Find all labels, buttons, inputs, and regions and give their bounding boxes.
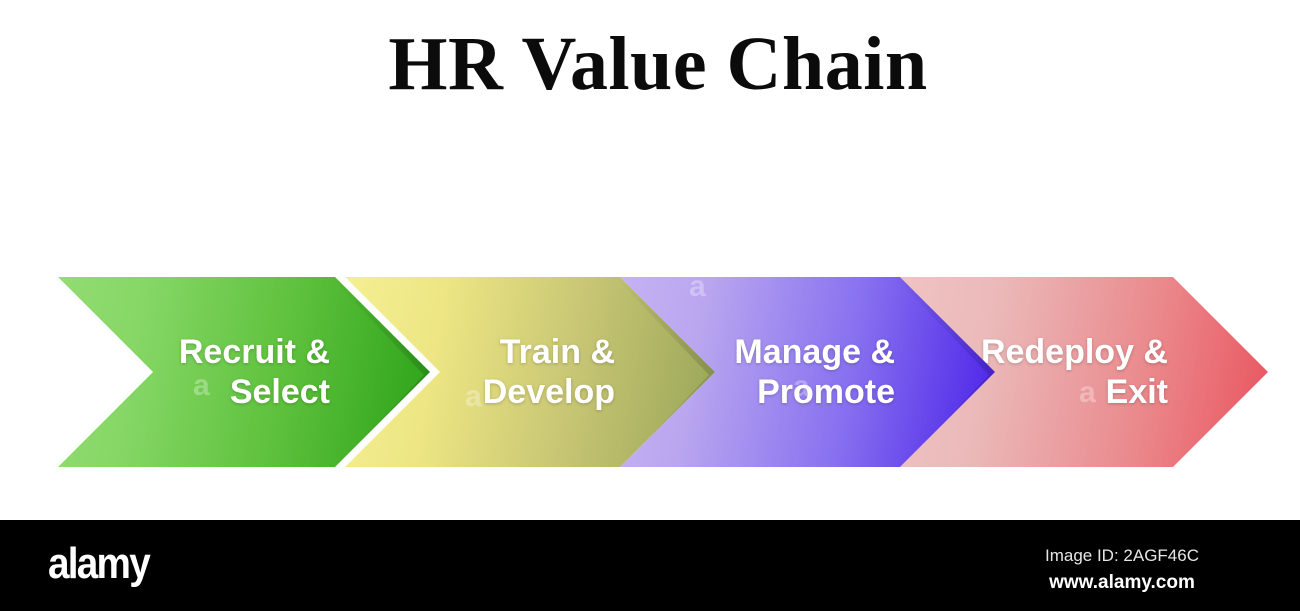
- chevron-stage-4-label: Redeploy & Exit: [981, 332, 1268, 412]
- hr-value-chain-diagram: Recruit & Select Train & Develop Manage …: [0, 277, 1300, 467]
- footer-credit-block: Image ID: 2AGF46C www.alamy.com: [962, 544, 1282, 596]
- image-id-text: Image ID: 2AGF46C: [962, 544, 1282, 569]
- page-title-text: HR Value Chain: [388, 26, 927, 102]
- image-canvas: HR Value Chain Recruit & Select Train & …: [0, 0, 1300, 611]
- chevron-stage-3-label: Manage & Promote: [734, 332, 995, 412]
- chevron-stage-2-label: Train & Develop: [483, 332, 715, 412]
- alamy-footer-bar: alamy Image ID: 2AGF46C www.alamy.com: [0, 520, 1300, 611]
- page-title: HR Value Chain: [0, 26, 1300, 102]
- alamy-url-text: www.alamy.com: [962, 569, 1282, 597]
- chevron-stage-1-label: Recruit & Select: [179, 332, 430, 412]
- alamy-logo: alamy: [48, 542, 149, 586]
